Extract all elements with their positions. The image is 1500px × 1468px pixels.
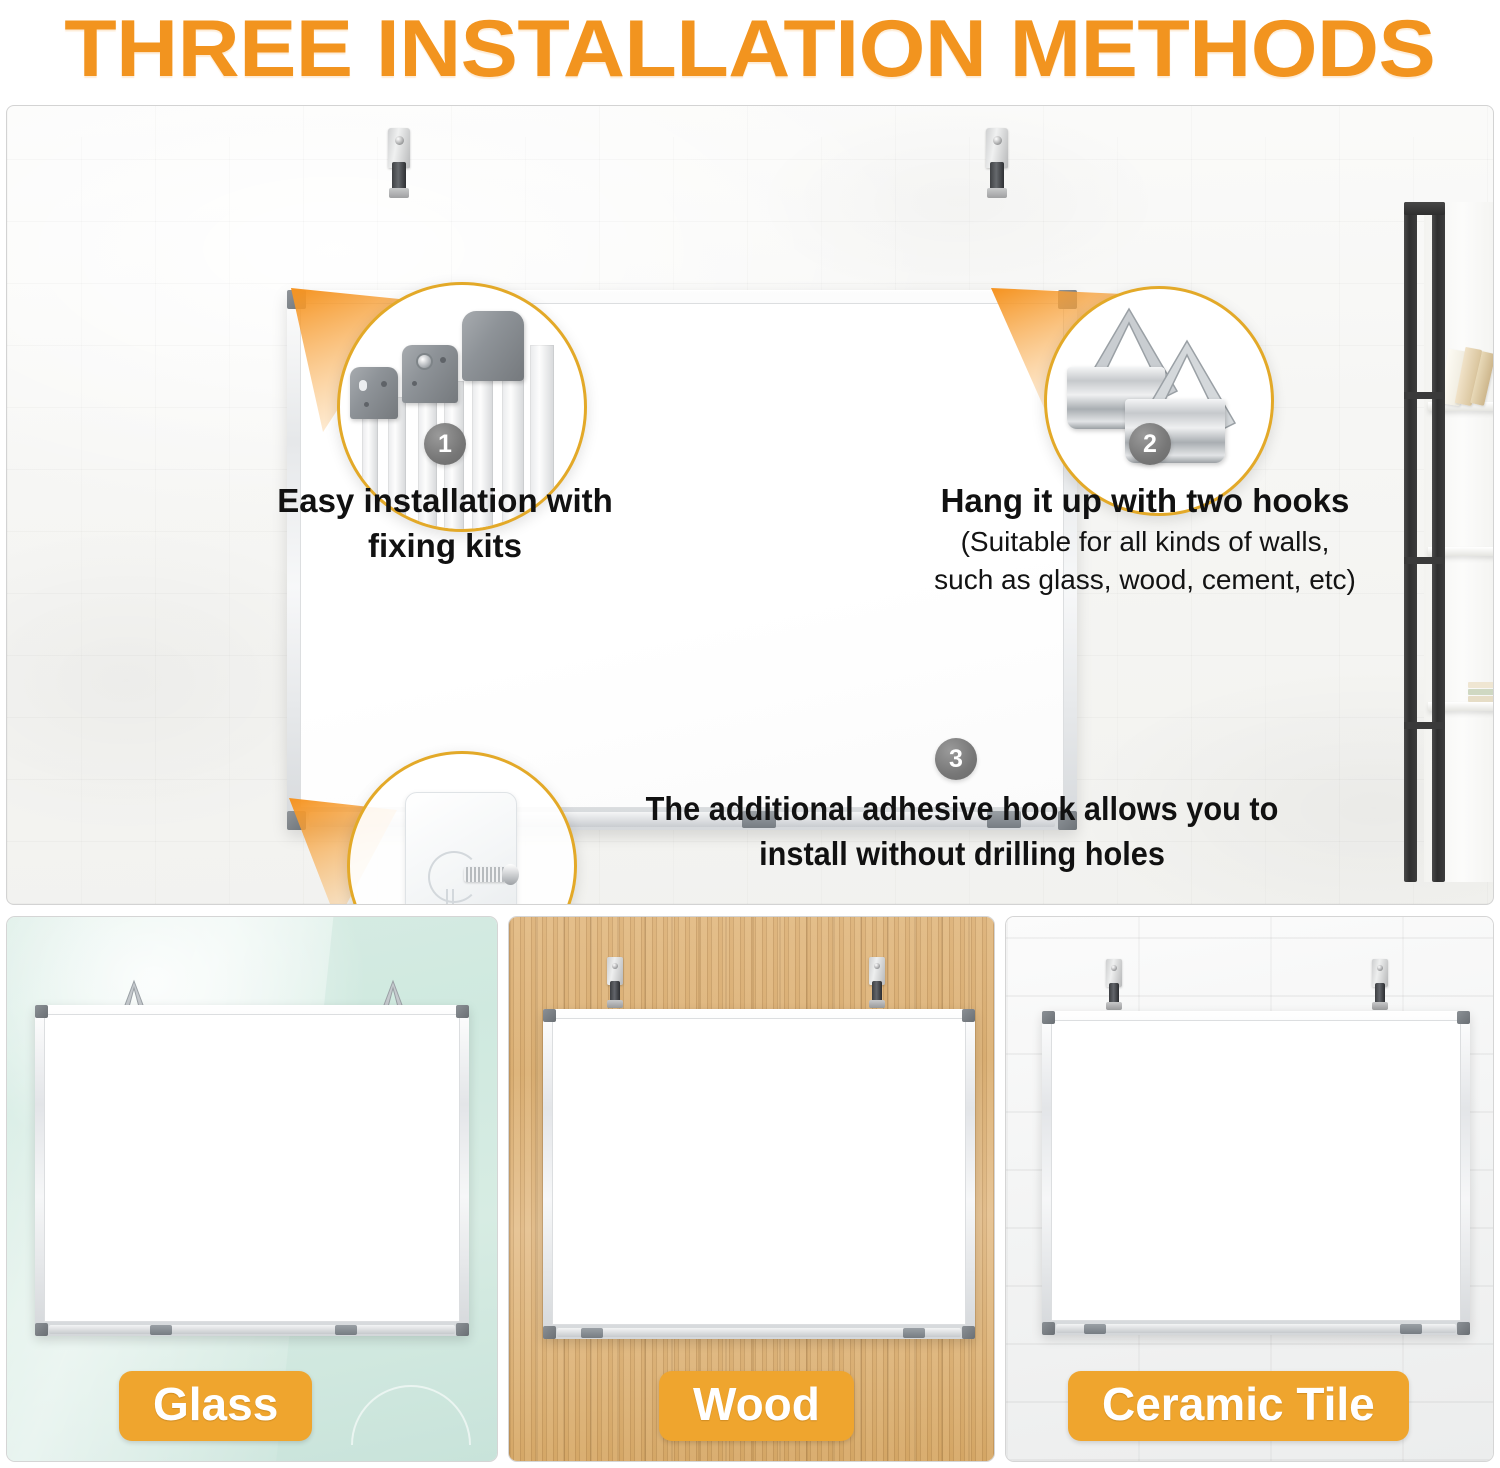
surface-panels: Glass — [6, 916, 1494, 1462]
surface-label-glass: Glass — [119, 1371, 312, 1441]
callout-headline-2: Hang it up with two hooks — [875, 478, 1415, 523]
hook-foot — [869, 1000, 885, 1008]
screw-bolt-head — [502, 864, 519, 885]
frame-corner — [35, 1005, 48, 1018]
step-badge-1: 1 — [424, 423, 466, 465]
wall-hook-left — [388, 128, 410, 206]
step-badge-2: 2 — [1129, 423, 1171, 465]
callout-caption-1: Easy installation with fixing kits — [235, 478, 655, 568]
ladder-rail — [1432, 202, 1445, 882]
wall-hook-right — [986, 128, 1008, 206]
whiteboard-surface — [44, 1014, 460, 1322]
frame-corner — [962, 1009, 975, 1022]
callout-headline-3: The additional adhesive hook allows you … — [595, 786, 1330, 876]
hook-foot — [607, 1000, 623, 1008]
book-stack-item — [1468, 696, 1494, 702]
wood-hook-left — [607, 957, 623, 1015]
surface-panel-wood: Wood — [508, 916, 995, 1462]
frame-corner — [1042, 1322, 1055, 1335]
callout-caption-2: Hang it up with two hooks (Suitable for … — [875, 478, 1415, 599]
ladder-rung — [1404, 722, 1445, 729]
frame-corner — [1457, 1322, 1470, 1335]
frame-corner — [456, 1005, 469, 1018]
whiteboard-on-glass — [35, 1005, 469, 1336]
tile-hook-right — [1372, 959, 1388, 1017]
hook-foot — [1372, 1002, 1388, 1010]
callout-headline-1: Easy installation with fixing kits — [235, 478, 655, 568]
hook-foot — [1106, 1002, 1122, 1010]
frame-corner — [456, 1323, 469, 1336]
ladder-rung — [1404, 392, 1445, 399]
ladder-top-bar — [1404, 202, 1445, 215]
hook-screw — [1111, 965, 1117, 971]
hook-screw — [874, 963, 880, 969]
hook-screw — [612, 963, 618, 969]
hook-screw — [1377, 965, 1383, 971]
pen-tray — [557, 1328, 961, 1337]
frame-corner — [1042, 1011, 1055, 1024]
hook-foot — [987, 188, 1007, 198]
step-badge-3: 3 — [935, 738, 977, 780]
frame-corner — [543, 1326, 556, 1339]
tray-clip — [1084, 1324, 1106, 1334]
whiteboard-surface — [552, 1018, 966, 1325]
frame-corner — [35, 1323, 48, 1336]
book-stack-item — [1468, 682, 1494, 688]
frame-corner — [1457, 1011, 1470, 1024]
surface-label-wood: Wood — [659, 1371, 854, 1441]
tray-clip — [1400, 1324, 1422, 1334]
surface-panel-ceramic-tile: Ceramic Tile — [1005, 916, 1494, 1462]
hero-panel: 1 Easy installation with fixing kits 2 H… — [6, 105, 1494, 905]
tray-clip — [903, 1328, 925, 1338]
tile-hook-left — [1106, 959, 1122, 1017]
adhesive-sticker — [405, 792, 517, 905]
wood-hook-right — [869, 957, 885, 1015]
page-title: THREE INSTALLATION METHODS — [64, 5, 1435, 93]
whiteboard-on-wood — [543, 1009, 975, 1339]
hook-screw — [993, 136, 1002, 145]
sticker-slot — [446, 889, 454, 905]
book-stack-item — [1468, 689, 1494, 695]
whiteboard-on-tile — [1042, 1011, 1470, 1335]
tray-clip — [150, 1325, 172, 1335]
callout-caption-3: The additional adhesive hook allows you … — [567, 786, 1357, 876]
hook-foot — [389, 188, 409, 198]
pen-tray — [1056, 1324, 1456, 1333]
headline-banner: THREE INSTALLATION METHODS — [0, 0, 1500, 98]
hook-screw — [395, 136, 404, 145]
pen-tray — [49, 1325, 455, 1334]
tray-clip — [581, 1328, 603, 1338]
frame-corner — [543, 1009, 556, 1022]
surface-panel-glass: Glass — [6, 916, 498, 1462]
callout-subtext-2: (Suitable for all kinds of walls, such a… — [875, 523, 1415, 599]
tray-clip — [335, 1325, 357, 1335]
product-infographic: THREE INSTALLATION METHODS — [0, 0, 1500, 1468]
whiteboard-surface — [1051, 1020, 1461, 1321]
surface-label-ceramic-tile: Ceramic Tile — [1068, 1371, 1409, 1441]
ladder-shelf — [1402, 202, 1494, 882]
frame-corner — [962, 1326, 975, 1339]
